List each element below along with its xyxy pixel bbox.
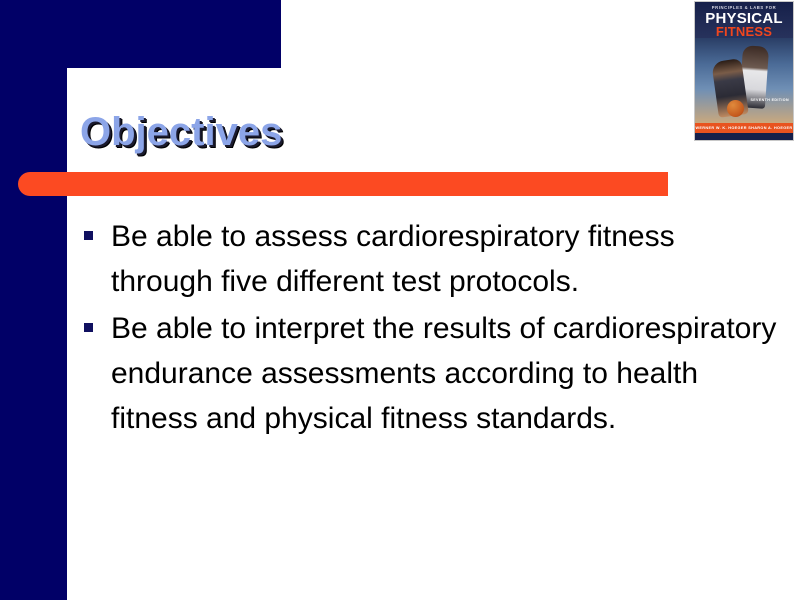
page-title: Objectives xyxy=(80,108,282,156)
book-cover-title-fitness: FITNESS xyxy=(695,26,793,38)
navy-top-block xyxy=(0,0,281,68)
book-cover-footer xyxy=(695,133,793,140)
square-bullet-icon xyxy=(84,323,93,332)
book-cover-header: PRINCIPLES & LABS for PHYSICAL FITNESS xyxy=(695,2,793,38)
book-cover-authors: WERNER W. K. HOEGER SHARON A. HOEGER xyxy=(695,123,793,133)
court-floor xyxy=(695,105,793,123)
list-item: Be able to assess cardiorespiratory fitn… xyxy=(84,214,783,304)
list-item-text: Be able to assess cardiorespiratory fitn… xyxy=(111,214,783,304)
slide-objectives: Objectives Be able to assess cardiorespi… xyxy=(0,0,800,600)
square-bullet-icon xyxy=(84,231,93,240)
list-item-text: Be able to interpret the results of card… xyxy=(111,306,783,441)
orange-divider-bar xyxy=(18,172,668,196)
list-item: Be able to interpret the results of card… xyxy=(84,306,783,441)
book-cover-photo: SEVENTH EDITION xyxy=(695,38,793,123)
book-cover-image: PRINCIPLES & LABS for PHYSICAL FITNESS S… xyxy=(695,2,793,140)
objectives-list: Be able to assess cardiorespiratory fitn… xyxy=(84,214,784,443)
navy-left-strip xyxy=(0,0,67,600)
book-cover-edition: SEVENTH EDITION xyxy=(750,98,789,103)
